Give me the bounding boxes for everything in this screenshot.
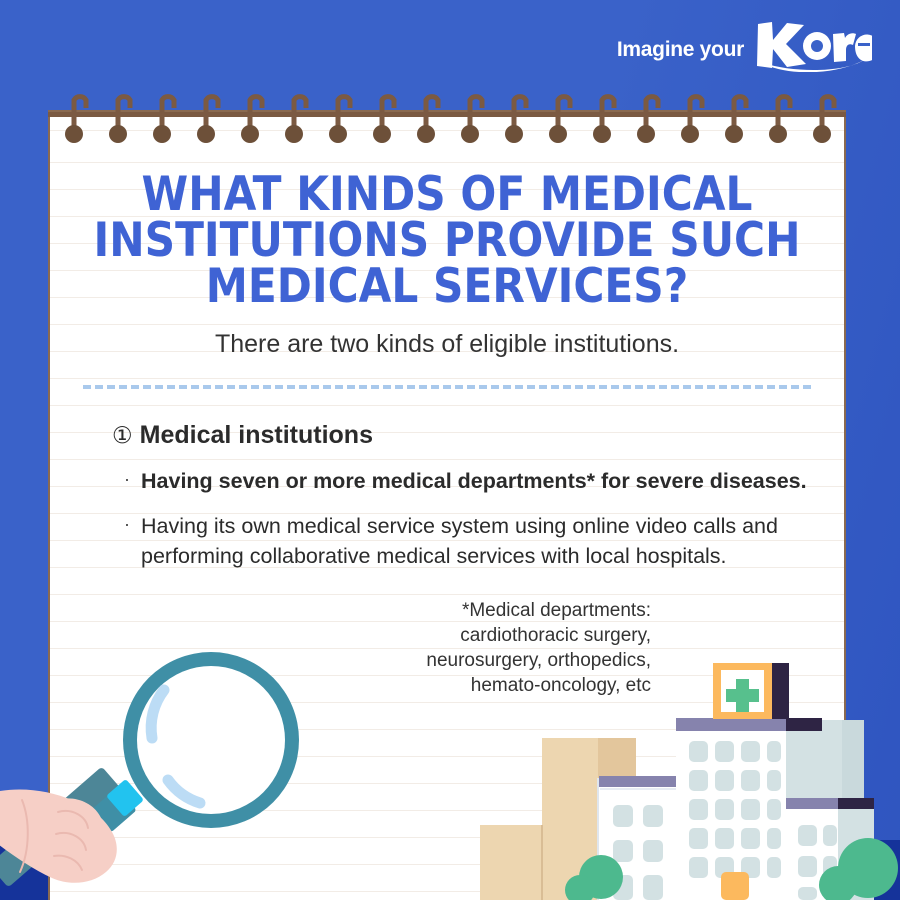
title-line-3: medical services? <box>62 264 832 310</box>
footnote-line-1: *Medical departments: <box>112 598 651 623</box>
spiral-ring-end <box>197 125 215 143</box>
spiral-ring-end <box>725 125 743 143</box>
bullet-dot-icon: · <box>124 511 130 572</box>
section-number: ① <box>112 423 133 449</box>
body-block: ① Medical institutions · Having seven or… <box>50 421 844 699</box>
list-item: · Having seven or more medical departmen… <box>112 466 814 497</box>
spiral-ring-end <box>241 125 259 143</box>
bullet-dot-icon: · <box>124 466 130 497</box>
notepad-page: What kinds of medical institutions provi… <box>48 110 846 900</box>
spiral-ring-end <box>637 125 655 143</box>
footnote-line-2: cardiothoracic surgery, <box>112 623 651 648</box>
spiral-ring-end <box>65 125 83 143</box>
bullet-text: Having its own medical service system us… <box>141 511 814 572</box>
spiral-ring-end <box>329 125 347 143</box>
spiral-ring-end <box>109 125 127 143</box>
title-line-2: institutions provide such <box>62 218 832 264</box>
spiral-ring-end <box>373 125 391 143</box>
page-subtitle: There are two kinds of eligible institut… <box>50 330 844 359</box>
dashed-divider <box>83 385 811 389</box>
section-heading-label: Medical institutions <box>140 421 373 450</box>
section-heading-row: ① Medical institutions <box>112 421 814 450</box>
logo-tagline: Imagine your <box>617 38 744 62</box>
spiral-ring-end <box>813 125 831 143</box>
spiral-ring-end <box>417 125 435 143</box>
footnote-line-3: neurosurgery, orthopedics, <box>112 648 651 673</box>
list-item: · Having its own medical service system … <box>112 511 814 572</box>
spiral-ring-end <box>153 125 171 143</box>
spiral-ring-end <box>769 125 787 143</box>
korea-wordmark-icon <box>754 20 872 72</box>
footnote: *Medical departments: cardiothoracic sur… <box>112 598 814 699</box>
footnote-line-4: hemato-oncology, etc <box>112 673 651 698</box>
spiral-ring-end <box>461 125 479 143</box>
notepad-content: What kinds of medical institutions provi… <box>50 112 844 699</box>
title-line-1: What kinds of medical <box>62 172 832 218</box>
spiral-ring-end <box>285 125 303 143</box>
brand-logo: Imagine your <box>617 20 872 79</box>
bullet-text: Having seven or more medical departments… <box>141 466 807 497</box>
spiral-ring-end <box>681 125 699 143</box>
spiral-ring-end <box>549 125 567 143</box>
page-title: What kinds of medical institutions provi… <box>50 172 844 310</box>
spiral-ring-end <box>593 125 611 143</box>
spiral-bar <box>48 112 846 117</box>
spiral-binding <box>48 88 846 144</box>
spiral-ring-end <box>505 125 523 143</box>
korea-brand-logo <box>754 20 872 79</box>
